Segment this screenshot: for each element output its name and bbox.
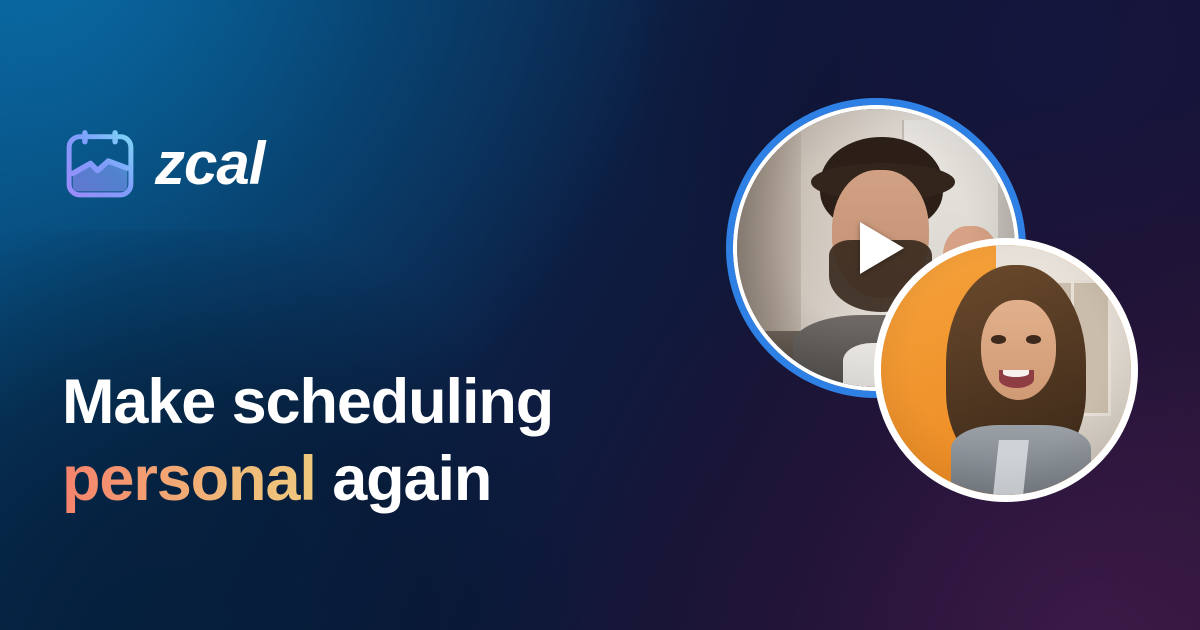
brand-logo[interactable]: zcal bbox=[62, 126, 264, 202]
og-social-card: zcal Make scheduling personal again bbox=[0, 0, 1200, 630]
headline-line-2: personal again bbox=[62, 441, 742, 518]
brand-wordmark: zcal bbox=[155, 134, 264, 194]
calendar-chart-icon bbox=[62, 126, 138, 202]
headline-line-1: Make scheduling bbox=[62, 364, 742, 441]
headline-line-2-rest: again bbox=[316, 444, 491, 514]
headline-accent-word: personal bbox=[62, 444, 316, 514]
page-title: Make scheduling personal again bbox=[62, 364, 742, 518]
